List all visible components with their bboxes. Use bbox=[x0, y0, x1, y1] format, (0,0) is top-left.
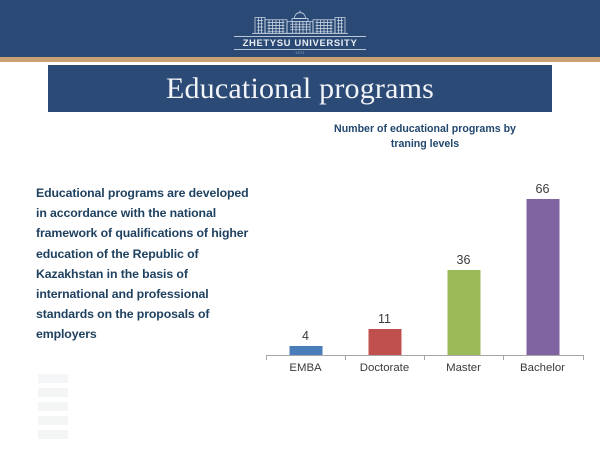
scan-artifact-row bbox=[38, 374, 68, 383]
scan-artifact-row bbox=[38, 430, 68, 439]
slide-title-banner: Educational programs bbox=[48, 65, 552, 112]
bar-slot-3: 66 bbox=[503, 167, 582, 355]
cat-label-master: Master bbox=[424, 362, 503, 374]
university-wordmark-year: 1972 bbox=[234, 50, 366, 56]
chart-category-labels: EMBA Doctorate Master Bachelor bbox=[262, 362, 588, 380]
axis-tick bbox=[503, 356, 504, 360]
slide-body-paragraph: Educational programs are developed in ac… bbox=[36, 183, 258, 345]
cat-label-doctorate: Doctorate bbox=[345, 362, 424, 374]
bar-value-emba: 4 bbox=[302, 329, 309, 343]
bar-doctorate[interactable] bbox=[368, 329, 401, 355]
university-building-icon bbox=[241, 9, 359, 35]
cat-label-emba: EMBA bbox=[266, 362, 345, 374]
scan-artifact-row bbox=[38, 402, 68, 411]
chart-title: Number of educational programs by tranin… bbox=[262, 122, 588, 152]
bar-slot-1: 11 bbox=[345, 167, 424, 355]
bar-value-doctorate: 11 bbox=[378, 312, 391, 326]
scan-artifact-row bbox=[38, 416, 68, 425]
axis-tick bbox=[345, 356, 346, 360]
chart-title-line-1: Number of educational programs by bbox=[334, 123, 516, 135]
slide-title: Educational programs bbox=[166, 72, 434, 106]
axis-tick bbox=[424, 356, 425, 360]
chart-x-axis bbox=[266, 355, 584, 356]
bar-value-master: 36 bbox=[457, 253, 471, 267]
chart-plot-area: 4 11 36 66 bbox=[262, 168, 588, 356]
bar-chart: Number of educational programs by tranin… bbox=[262, 122, 588, 380]
axis-tick bbox=[583, 356, 584, 360]
bar-emba[interactable] bbox=[289, 346, 322, 355]
university-wordmark: ZHETYSU UNIVERSITY bbox=[234, 36, 366, 50]
scan-artifact bbox=[38, 374, 68, 448]
bar-bachelor[interactable] bbox=[526, 199, 559, 355]
bar-value-bachelor: 66 bbox=[536, 182, 550, 196]
university-logo: ZHETYSU UNIVERSITY 1972 bbox=[234, 9, 366, 56]
cat-label-bachelor: Bachelor bbox=[503, 362, 582, 374]
gold-accent-rule bbox=[0, 57, 600, 62]
chart-title-line-2: traning levels bbox=[391, 138, 459, 150]
bar-slot-0: 4 bbox=[266, 167, 345, 355]
bar-master[interactable] bbox=[447, 270, 480, 355]
slide-header-band: ZHETYSU UNIVERSITY 1972 bbox=[0, 0, 600, 57]
scan-artifact-row bbox=[38, 388, 68, 397]
bar-slot-2: 36 bbox=[424, 167, 503, 355]
axis-tick bbox=[266, 356, 267, 360]
